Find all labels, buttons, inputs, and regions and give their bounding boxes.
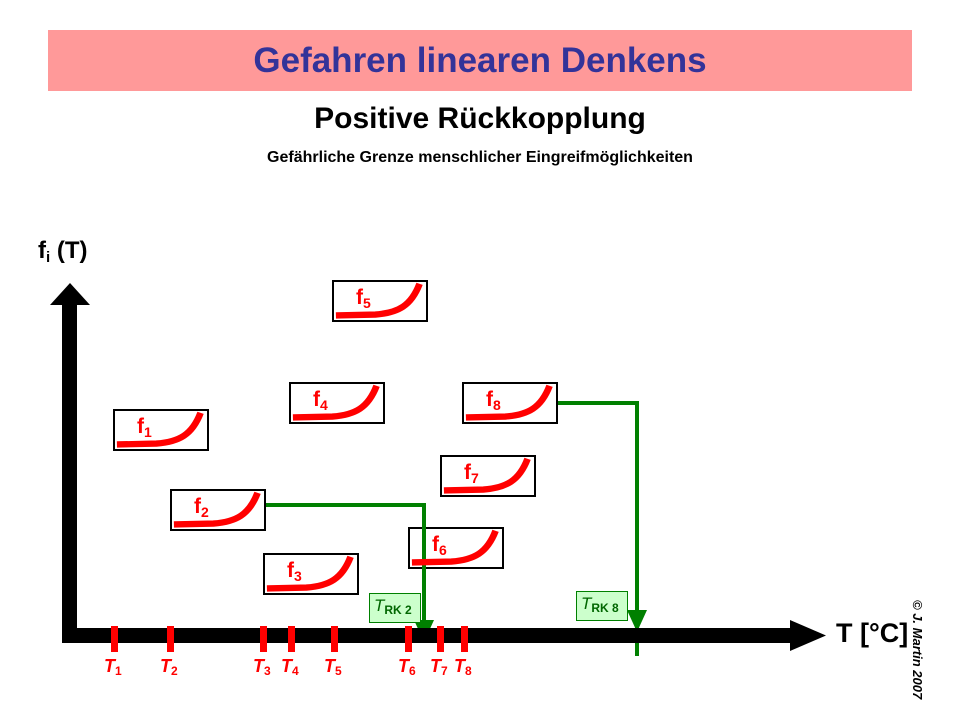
feedback-tag-TRK8: TRK 8	[576, 591, 628, 621]
x-axis-arrowhead	[790, 620, 826, 651]
y-axis-line	[62, 300, 77, 636]
feedback-tag-main: T	[374, 596, 384, 615]
x-tick-T6	[405, 626, 412, 652]
x-tick-T4	[288, 626, 295, 652]
y-axis-arrowhead	[50, 283, 90, 305]
x-tick-T7	[437, 626, 444, 652]
axes-layer	[0, 0, 960, 720]
x-tick-T2	[167, 626, 174, 652]
x-tick-T1	[111, 626, 118, 652]
feedback-tag-main: T	[581, 594, 591, 613]
feedback-tag-sub: RK 8	[591, 601, 618, 615]
x-tick-T3	[260, 626, 267, 652]
feedback-tag-sub: RK 2	[384, 603, 411, 617]
x-tick-T5	[331, 626, 338, 652]
slide-canvas: Gefahren linearen Denkens Positive Rückk…	[0, 0, 960, 720]
feedback-tag-TRK2: TRK 2	[369, 593, 421, 623]
x-tick-T8	[461, 626, 468, 652]
